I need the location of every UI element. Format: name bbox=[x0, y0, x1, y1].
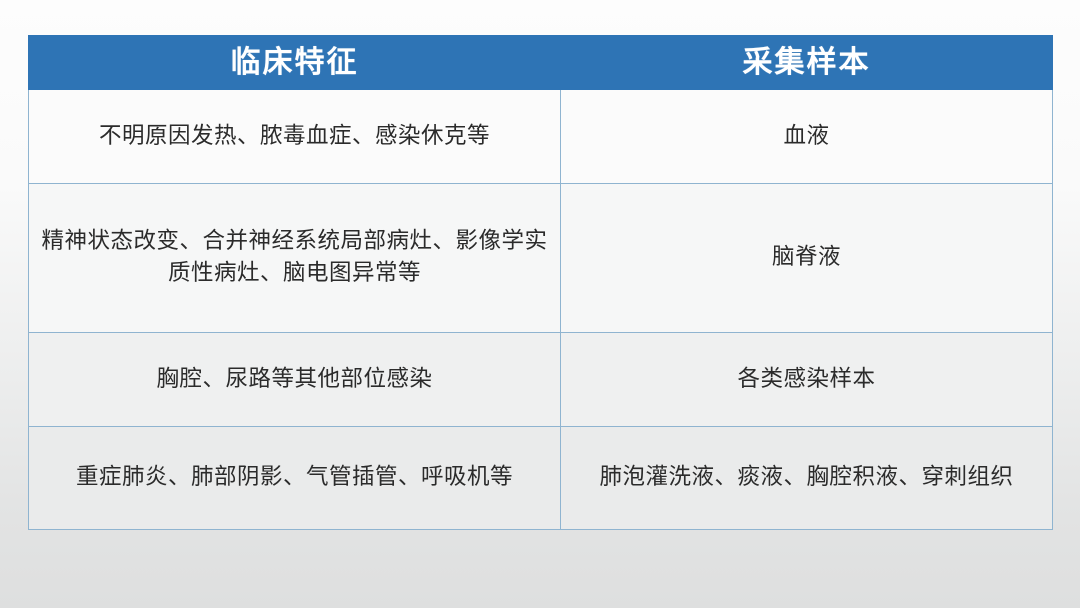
cell-collected-sample: 各类感染样本 bbox=[561, 333, 1053, 427]
cell-text: 胸腔、尿路等其他部位感染 bbox=[35, 364, 554, 396]
cell-text: 肺泡灌洗液、痰液、胸腔积液、穿刺组织 bbox=[567, 462, 1046, 494]
table-row: 胸腔、尿路等其他部位感染 各类感染样本 bbox=[29, 333, 1053, 427]
cell-text: 重症肺炎、肺部阴影、气管插管、呼吸机等 bbox=[35, 462, 554, 494]
column-header-clinical-features: 临床特征 bbox=[29, 36, 561, 90]
cell-text: 血液 bbox=[567, 121, 1046, 153]
table-body: 不明原因发热、脓毒血症、感染休克等 血液 精神状态改变、合并神经系统局部病灶、影… bbox=[29, 90, 1053, 530]
table-header-row: 临床特征 采集样本 bbox=[29, 36, 1053, 90]
table-row: 重症肺炎、肺部阴影、气管插管、呼吸机等 肺泡灌洗液、痰液、胸腔积液、穿刺组织 bbox=[29, 427, 1053, 530]
cell-text: 各类感染样本 bbox=[567, 364, 1046, 396]
table-row: 精神状态改变、合并神经系统局部病灶、影像学实质性病灶、脑电图异常等 脑脊液 bbox=[29, 184, 1053, 333]
cell-clinical-feature: 不明原因发热、脓毒血症、感染休克等 bbox=[29, 90, 561, 184]
column-header-collected-sample: 采集样本 bbox=[561, 36, 1053, 90]
cell-text: 不明原因发热、脓毒血症、感染休克等 bbox=[35, 121, 554, 153]
cell-clinical-feature: 重症肺炎、肺部阴影、气管插管、呼吸机等 bbox=[29, 427, 561, 530]
cell-text: 精神状态改变、合并神经系统局部病灶、影像学实质性病灶、脑电图异常等 bbox=[35, 226, 554, 290]
cell-text: 脑脊液 bbox=[567, 242, 1046, 274]
table-header: 临床特征 采集样本 bbox=[29, 36, 1053, 90]
cell-collected-sample: 脑脊液 bbox=[561, 184, 1053, 333]
table-row: 不明原因发热、脓毒血症、感染休克等 血液 bbox=[29, 90, 1053, 184]
cell-collected-sample: 肺泡灌洗液、痰液、胸腔积液、穿刺组织 bbox=[561, 427, 1053, 530]
cell-clinical-feature: 胸腔、尿路等其他部位感染 bbox=[29, 333, 561, 427]
slide-canvas: 临床特征 采集样本 不明原因发热、脓毒血症、感染休克等 血液 精神状态改变、合并… bbox=[0, 0, 1080, 608]
clinical-sample-table: 临床特征 采集样本 不明原因发热、脓毒血症、感染休克等 血液 精神状态改变、合并… bbox=[28, 35, 1053, 530]
cell-clinical-feature: 精神状态改变、合并神经系统局部病灶、影像学实质性病灶、脑电图异常等 bbox=[29, 184, 561, 333]
cell-collected-sample: 血液 bbox=[561, 90, 1053, 184]
